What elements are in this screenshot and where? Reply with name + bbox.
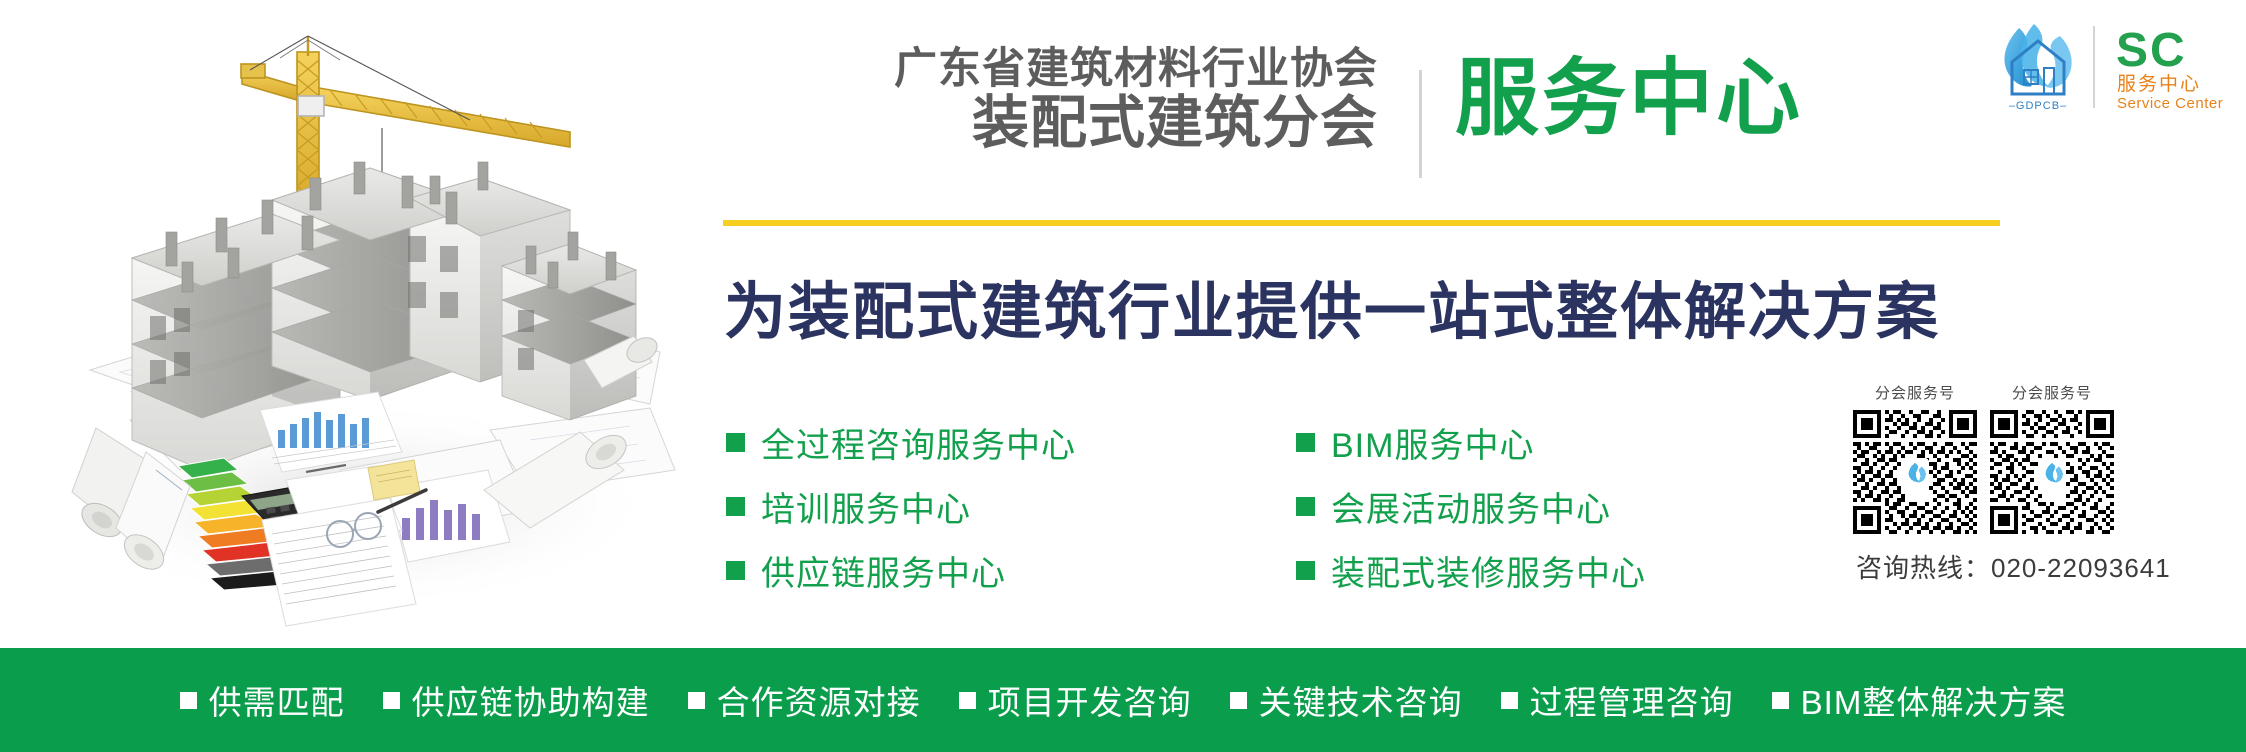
association-name-line2: 装配式建筑分会 <box>838 94 1378 152</box>
logo-cn-text: 服务中心 <box>2117 73 2201 95</box>
bullet-square-icon <box>1772 692 1789 709</box>
service-list-right: BIM服务中心 会展活动服务中心 装配式装修服务中心 <box>1296 410 1646 602</box>
main-slogan: 为装配式建筑行业提供一站式整体解决方案 <box>724 261 1940 351</box>
service-item-label: 装配式装修服务中心 <box>1331 546 1646 595</box>
service-item-label: 供应链服务中心 <box>761 546 1006 595</box>
bullet-square-icon <box>959 692 976 709</box>
service-item-label: 全过程咨询服务中心 <box>761 418 1076 467</box>
service-item[interactable]: 会展活动服务中心 <box>1296 474 1646 538</box>
bottom-bar-item-label: 关键技术咨询 <box>1259 676 1463 724</box>
svg-text:–GDPCB–: –GDPCB– <box>2009 100 2067 112</box>
service-item[interactable]: BIM服务中心 <box>1296 410 1646 474</box>
association-title: 广东省建筑材料行业协会 装配式建筑分会 <box>838 48 1378 152</box>
bullet-square-icon <box>383 692 400 709</box>
bottom-bar-item-label: 供需匹配 <box>209 676 345 724</box>
brand-logo[interactable]: –GDPCB– SC 服务中心 Service Center <box>1986 14 2242 118</box>
logo-en-text: Service Center <box>2117 95 2223 112</box>
bottom-bar-item-label: BIM整体解决方案 <box>1801 676 2067 724</box>
bullet-square-icon <box>1296 433 1315 452</box>
bottom-bar-item[interactable]: 关键技术咨询 <box>1230 676 1463 724</box>
service-item[interactable]: 培训服务中心 <box>726 474 1076 538</box>
service-item[interactable]: 供应链服务中心 <box>726 538 1076 602</box>
bottom-bar-item-label: 过程管理咨询 <box>1530 676 1734 724</box>
bottom-service-bar: 供需匹配 供应链协助构建 合作资源对接 项目开发咨询 关键技术咨询 过程管理咨询 <box>0 648 2246 752</box>
hero-image <box>10 0 700 645</box>
bottom-bar-item-label: 合作资源对接 <box>717 676 921 724</box>
bullet-square-icon <box>1230 692 1247 709</box>
bullet-square-icon <box>726 561 745 580</box>
bullet-square-icon <box>726 497 745 516</box>
bullet-square-icon <box>726 433 745 452</box>
hotline-text: 咨询热线：020-22093641 <box>1856 548 2171 585</box>
qr-caption: 分会服务号 <box>1853 382 1977 403</box>
qr-code-right[interactable] <box>1990 410 2114 534</box>
promo-banner: 广东省建筑材料行业协会 装配式建筑分会 服务中心 为装配式建筑行业提供一站式整体… <box>0 0 2246 752</box>
qr-caption: 分会服务号 <box>1990 382 2114 403</box>
bullet-square-icon <box>1296 561 1315 580</box>
qr-code-right-group: 分会服务号 <box>1990 382 2114 534</box>
logo-sc-text: SC <box>2116 24 2187 77</box>
bottom-bar-item[interactable]: 供需匹配 <box>180 676 345 724</box>
bottom-bar-item-label: 供应链协助构建 <box>412 676 650 724</box>
bottom-bar-item[interactable]: 过程管理咨询 <box>1501 676 1734 724</box>
bullet-square-icon <box>1501 692 1518 709</box>
service-list-left: 全过程咨询服务中心 培训服务中心 供应链服务中心 <box>726 410 1076 602</box>
gdpcb-house-flame-icon: –GDPCB– <box>2004 24 2071 112</box>
service-item[interactable]: 全过程咨询服务中心 <box>726 410 1076 474</box>
service-item[interactable]: 装配式装修服务中心 <box>1296 538 1646 602</box>
service-item-label: BIM服务中心 <box>1331 418 1534 467</box>
bullet-square-icon <box>1296 497 1315 516</box>
bullet-square-icon <box>180 692 197 709</box>
bottom-bar-item-label: 项目开发咨询 <box>988 676 1192 724</box>
yellow-divider-rule <box>723 220 2000 226</box>
bottom-bar-item[interactable]: 供应链协助构建 <box>383 676 650 724</box>
title-vertical-divider <box>1419 70 1422 178</box>
bottom-bar-item[interactable]: 项目开发咨询 <box>959 676 1192 724</box>
service-item-label: 培训服务中心 <box>761 482 971 531</box>
bottom-bar-item[interactable]: BIM整体解决方案 <box>1772 676 2067 724</box>
qr-code-left-group: 分会服务号 <box>1853 382 1977 534</box>
bullet-square-icon <box>688 692 705 709</box>
service-item-label: 会展活动服务中心 <box>1331 482 1611 531</box>
qr-code-left[interactable] <box>1853 410 1977 534</box>
service-center-heading: 服务中心 <box>1455 52 1803 144</box>
association-name-line1: 广东省建筑材料行业协会 <box>838 48 1378 92</box>
bottom-bar-item[interactable]: 合作资源对接 <box>688 676 921 724</box>
